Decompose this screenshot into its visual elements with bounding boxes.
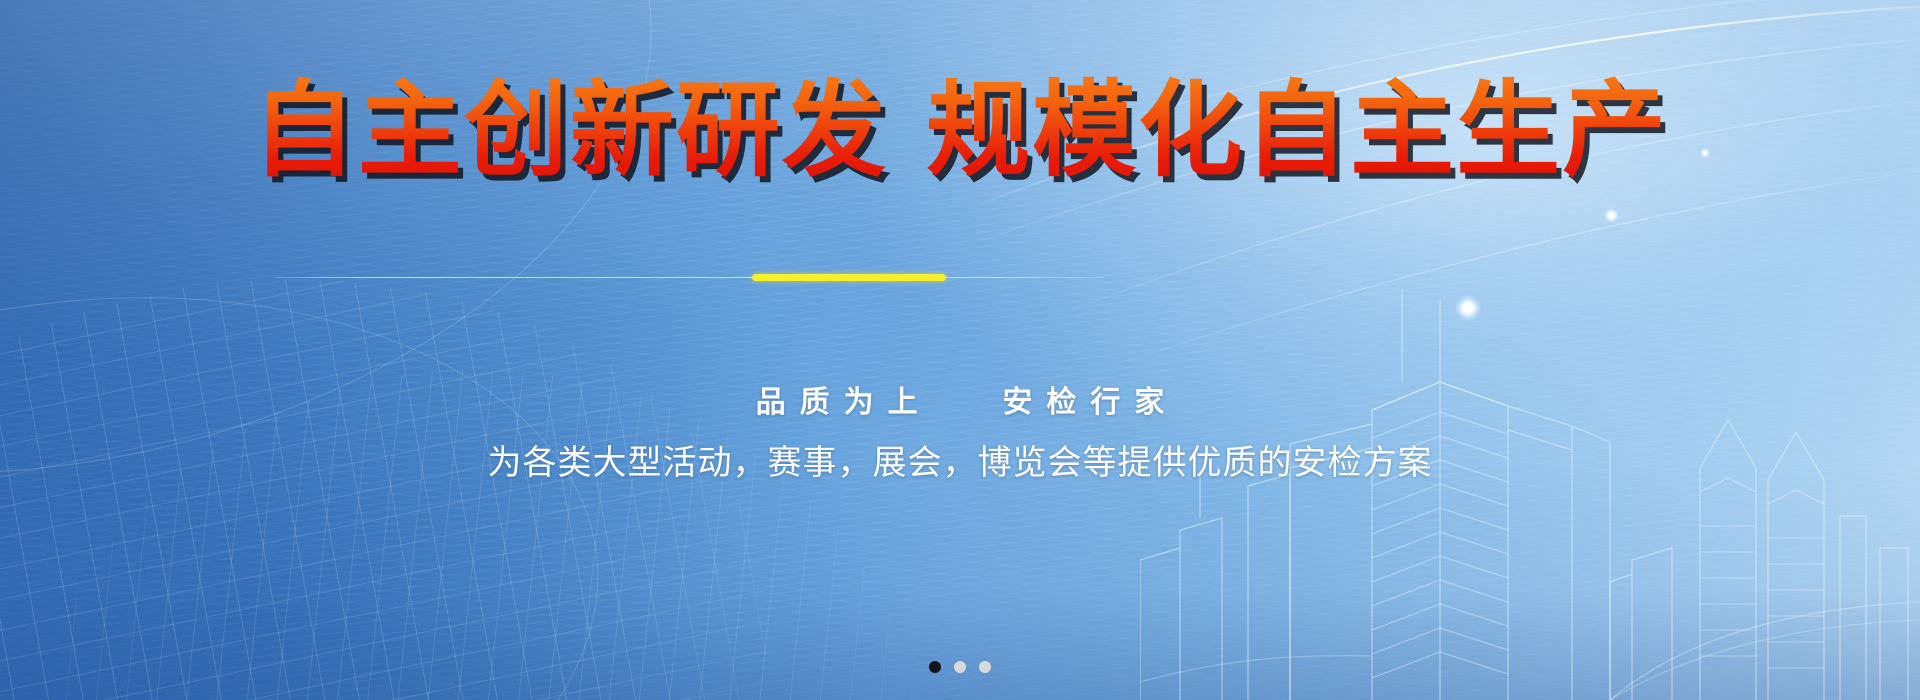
- subtitle: 为各类大型活动，赛事，展会，博览会等提供优质的安检方案: [0, 435, 1920, 484]
- divider-bar: [752, 274, 946, 281]
- page-title: 自主创新研发 规模化自主生产: [0, 72, 1920, 188]
- tagline-right: 安检行家: [1002, 386, 1178, 419]
- carousel-indicators: [0, 661, 1920, 673]
- hero-banner: 自主创新研发 规模化自主生产 品质为上 安检行家 为各类大型活动，赛事，展会，博…: [0, 0, 1920, 700]
- carousel-dot-3[interactable]: [979, 661, 991, 673]
- divider: [0, 274, 1920, 282]
- tagline: 品质为上 安检行家: [0, 377, 1920, 421]
- carousel-dot-2[interactable]: [954, 661, 966, 673]
- carousel-dot-1[interactable]: [929, 661, 941, 673]
- banner-content: 自主创新研发 规模化自主生产 品质为上 安检行家 为各类大型活动，赛事，展会，博…: [0, 0, 1920, 700]
- tagline-left: 品质为上: [756, 386, 932, 419]
- divider-hairline: [275, 277, 1105, 278]
